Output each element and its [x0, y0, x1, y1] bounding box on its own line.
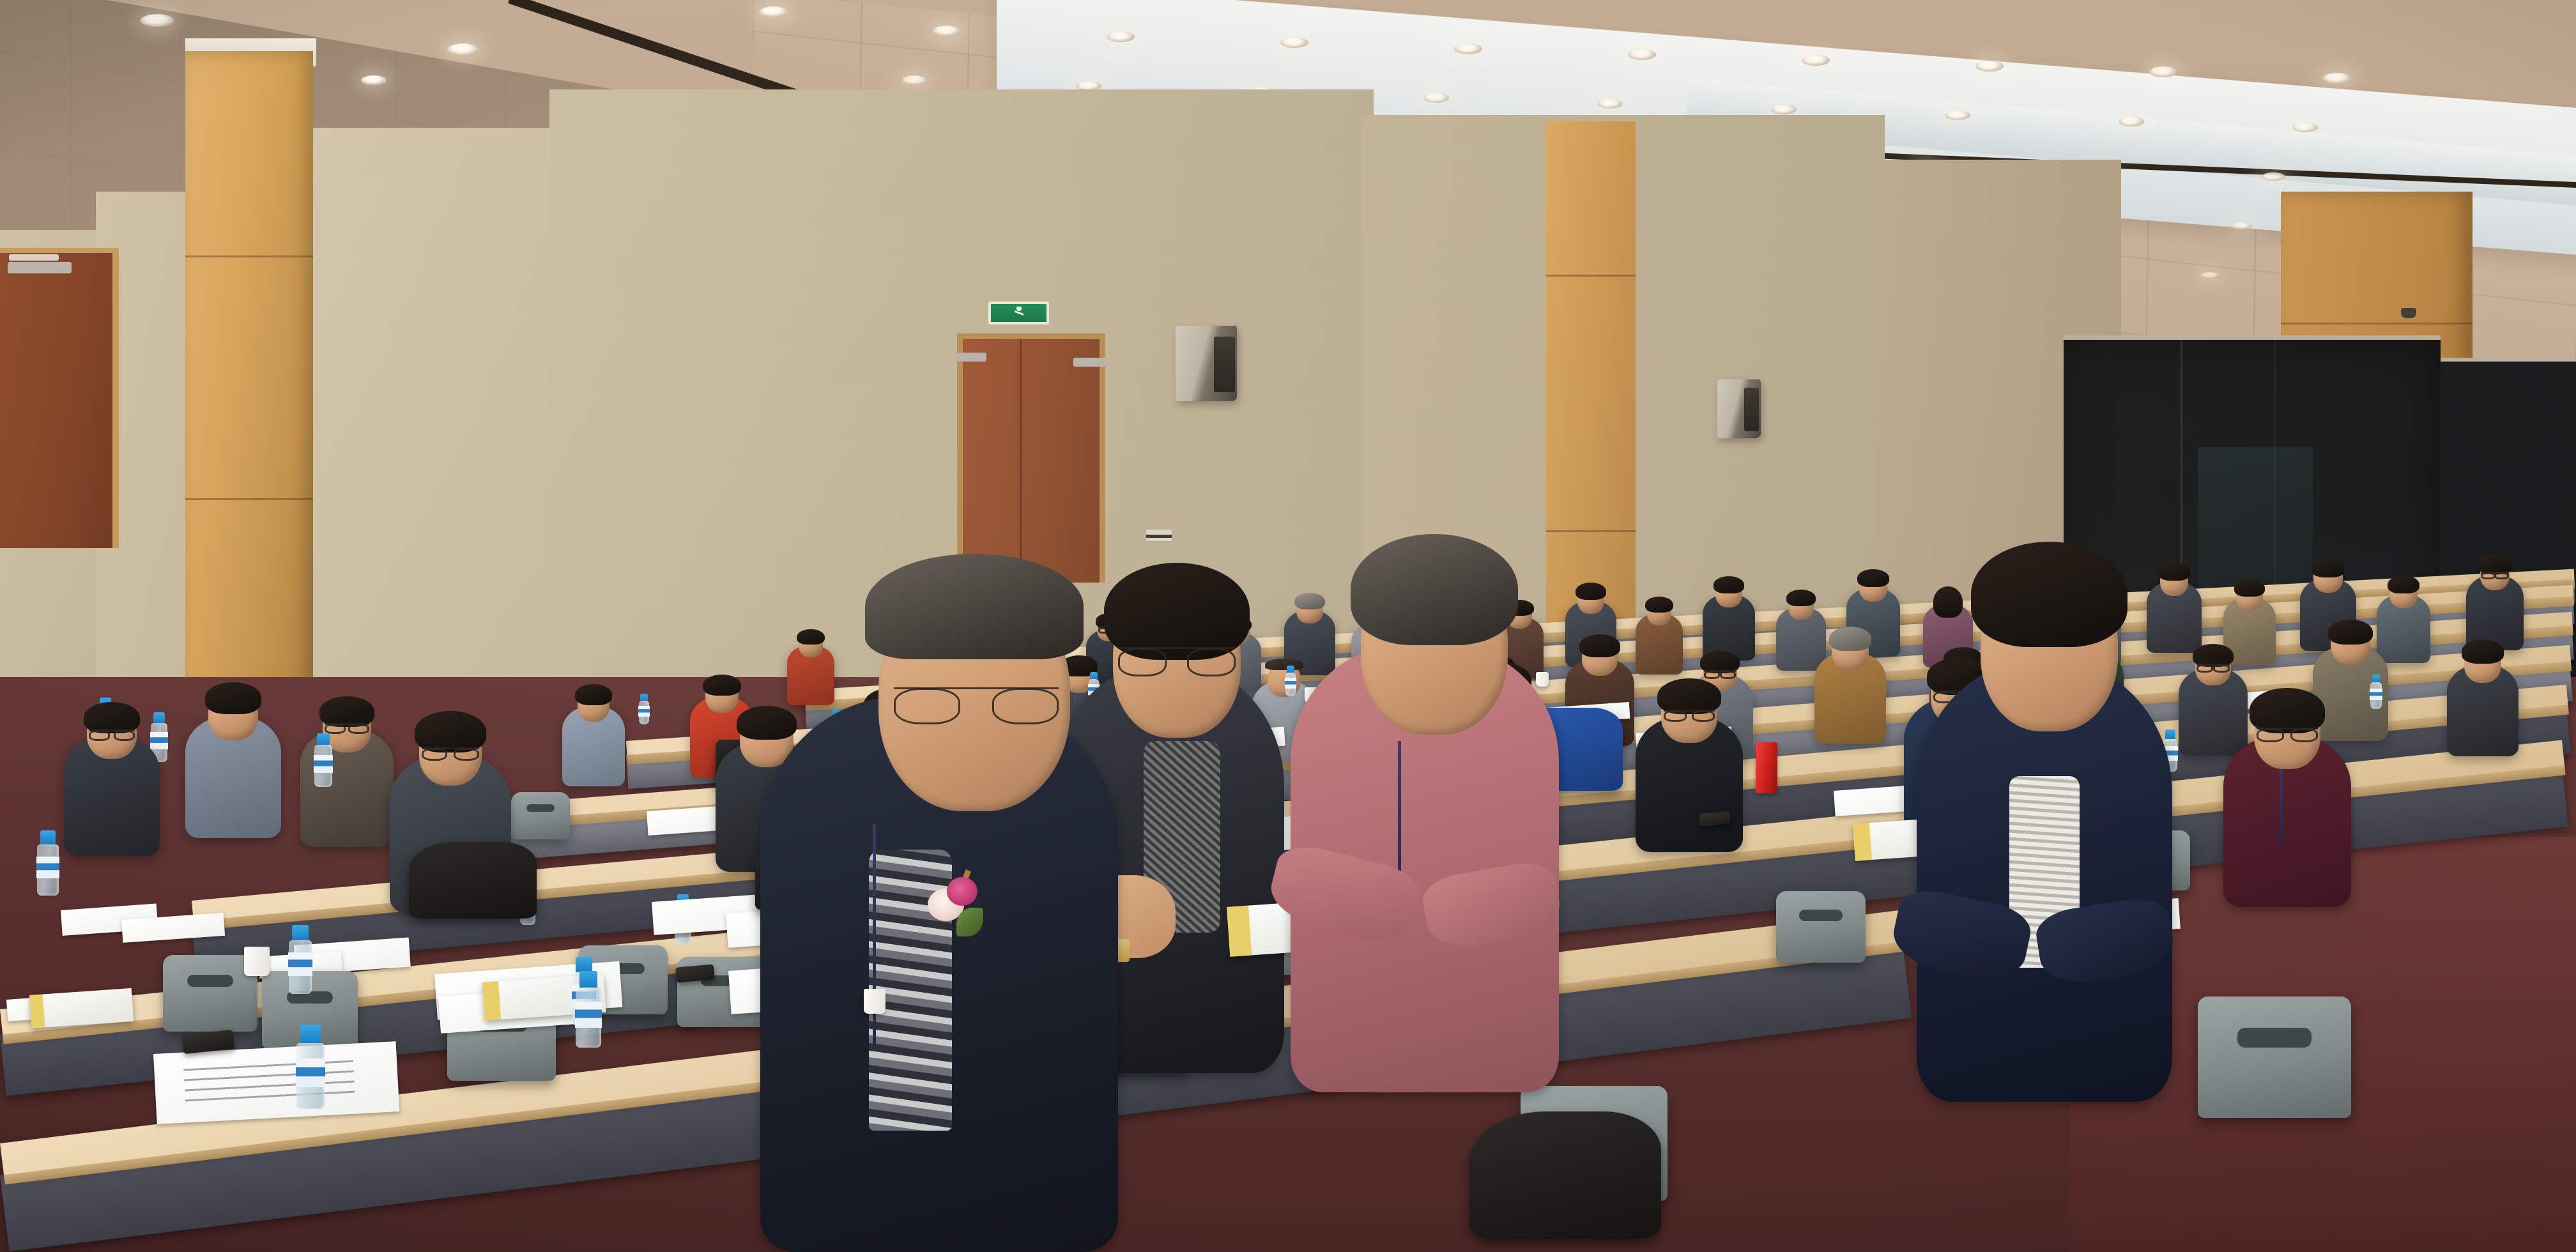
attendee-hair — [1657, 678, 1721, 714]
attendee-hair — [2250, 688, 2326, 733]
attendee-hair — [1713, 576, 1745, 593]
bottle-cap — [153, 712, 165, 723]
chair[interactable] — [163, 955, 257, 1032]
attendee-head — [1859, 572, 1887, 601]
attendee-head — [2195, 648, 2231, 685]
attendee-hair — [2462, 639, 2504, 663]
chair[interactable] — [511, 792, 570, 839]
eyeglasses-icon — [2257, 728, 2318, 740]
attendee — [1636, 715, 1743, 852]
attendee-head — [578, 688, 610, 722]
bottle-cap — [576, 957, 592, 972]
attendee-hair — [1971, 542, 2127, 646]
attendee-hair — [1645, 597, 1673, 613]
seminar-booklet — [29, 988, 134, 1028]
attendee-head — [1935, 590, 1961, 616]
eyeglasses-icon — [2481, 572, 2508, 577]
bottle-cap — [640, 694, 648, 701]
bottle-label — [288, 952, 312, 976]
booklet-spine — [1227, 906, 1252, 957]
attendee-hair — [1786, 590, 1816, 606]
attendee-head — [1981, 562, 2118, 731]
attendee-front-mauve — [1291, 645, 1559, 1092]
attendee-head — [1715, 579, 1743, 607]
lanyard — [873, 824, 876, 1048]
attendee-head — [1577, 586, 1604, 614]
bottle-cap — [579, 971, 598, 988]
water-bottle — [289, 925, 312, 994]
attendee-head — [2464, 645, 2501, 683]
water-bottle — [576, 971, 601, 1048]
attendee-hair — [1351, 534, 1518, 645]
seminar-room-photo: Seminar room audience — [0, 0, 2576, 1252]
bottle-cap — [292, 925, 309, 940]
attendee-hair — [319, 696, 375, 727]
chair[interactable] — [1776, 891, 1866, 963]
attendee-front-suit — [760, 696, 1118, 1252]
attendee-hair — [1294, 593, 1324, 610]
attendee-hair — [2311, 558, 2345, 577]
attendee-head — [1296, 596, 1323, 623]
attendee — [562, 706, 625, 786]
eyeglasses-icon — [1664, 710, 1715, 719]
attendee-hair — [2328, 620, 2373, 645]
bottle-cap — [317, 733, 330, 745]
bottle-label — [36, 857, 59, 879]
paper-cup — [244, 947, 270, 976]
booklet-spine — [29, 995, 45, 1028]
eyeglasses-icon — [325, 723, 369, 731]
eyeglasses-icon — [89, 729, 135, 738]
attendee — [1814, 652, 1886, 744]
water-bottle — [37, 830, 59, 896]
attendee-hair — [865, 554, 1084, 660]
attendee-head — [1647, 600, 1671, 625]
attendee — [185, 715, 281, 838]
booklet-spine — [482, 981, 501, 1021]
chair[interactable] — [2198, 996, 2351, 1118]
attendee-hair — [1857, 569, 1889, 587]
bottle-label — [296, 1058, 325, 1087]
attendee-hair — [703, 675, 740, 696]
eyeglasses-icon — [422, 747, 480, 759]
eyeglasses-icon — [894, 687, 1059, 722]
attendee — [2447, 664, 2518, 756]
attendee-head — [878, 581, 1070, 811]
attendee-head — [2480, 558, 2510, 590]
attendee-head — [1113, 581, 1241, 738]
paper-cup — [864, 989, 885, 1014]
attendee — [1636, 613, 1683, 675]
attendee-hair — [2388, 576, 2419, 593]
bottle-label — [314, 755, 333, 774]
attendee-front-cardigan — [1917, 661, 2172, 1102]
attendee-head — [208, 689, 258, 740]
attendee-hair — [84, 702, 141, 733]
attendee-head — [2236, 583, 2264, 611]
attendee-hair — [2234, 579, 2265, 597]
handout-paper — [153, 1041, 399, 1124]
attendee-head — [1661, 685, 1717, 743]
bottle-label — [2370, 689, 2382, 700]
attendee-hair — [1104, 563, 1250, 660]
attendee-head — [2389, 579, 2418, 607]
attendee-head — [705, 678, 739, 713]
eyeglasses-icon — [2196, 664, 2230, 670]
attendee — [64, 735, 160, 856]
attendee-head — [1832, 632, 1869, 670]
attendee — [2147, 581, 2202, 653]
water-bottle — [296, 1025, 325, 1109]
attendee-hair — [415, 711, 487, 752]
bottle-cap — [300, 1025, 321, 1043]
attendee-head — [87, 708, 137, 760]
bottle-cap — [40, 830, 56, 844]
attendee-hair — [1579, 634, 1620, 657]
attendee-hair — [1829, 627, 1871, 650]
eyeglasses-icon — [1704, 670, 1736, 676]
attendee-head — [1788, 593, 1814, 620]
attendee-hair — [2158, 562, 2191, 581]
attendee-hair — [1933, 586, 1963, 618]
attendee-head — [1361, 556, 1508, 735]
bottle-label — [638, 706, 650, 716]
attendee-head — [2331, 624, 2370, 664]
smartphone[interactable] — [1699, 811, 1731, 827]
attendee — [2466, 575, 2524, 650]
attendee-hair — [1575, 583, 1606, 600]
attendee-hair — [797, 629, 825, 645]
attendee — [1703, 594, 1755, 660]
soda-can — [1756, 742, 1777, 793]
attendee-head — [799, 632, 823, 657]
attendee-hair — [205, 682, 262, 714]
corsage-bloom-pink — [947, 877, 977, 906]
eyeglasses-icon — [1118, 647, 1236, 674]
water-bottle — [639, 694, 649, 724]
bottle-cap — [2372, 675, 2380, 682]
attendee-head — [1582, 639, 1618, 676]
water-bottle — [314, 733, 332, 787]
attendee-hair — [575, 684, 612, 705]
draped-coat — [1469, 1111, 1661, 1239]
attendee-head — [2313, 562, 2343, 593]
booklet-spine — [1853, 823, 1872, 861]
corsage-flower — [924, 875, 1068, 1034]
attendee — [2223, 735, 2351, 907]
audience-seating-area — [0, 0, 2576, 1252]
water-bottle — [2370, 675, 2382, 709]
attendee-head — [419, 719, 482, 786]
attendee-head — [2160, 566, 2189, 596]
attendee-head — [2254, 697, 2320, 769]
draped-coat — [409, 842, 537, 919]
bottle-label — [575, 1002, 602, 1028]
